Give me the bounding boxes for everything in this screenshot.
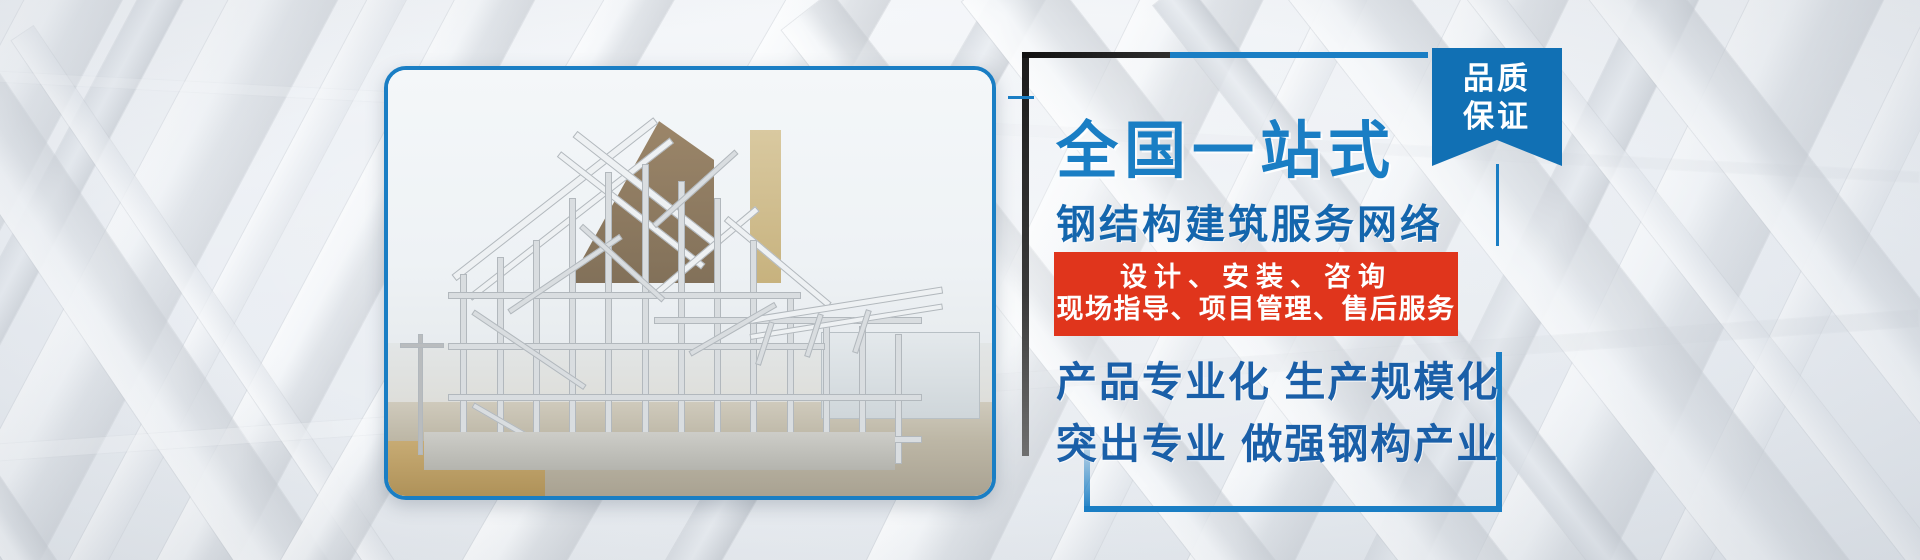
badge-tail-line xyxy=(1496,164,1499,246)
promotional-banner: 品质 保证 全国一站式 钢结构建筑服务网络 设计、安装、咨询 现场指导、项目管理… xyxy=(0,0,1920,560)
panel-top-dark-border xyxy=(1022,52,1172,58)
text-panel: 品质 保证 全国一站式 钢结构建筑服务网络 设计、安装、咨询 现场指导、项目管理… xyxy=(1022,52,1502,512)
headline-main: 全国一站式 xyxy=(1056,100,1396,190)
badge-line-2: 保证 xyxy=(1463,98,1531,136)
slogan-line-1: 产品专业化 生产规模化 xyxy=(1056,348,1499,408)
services-line-1: 设计、安装、咨询 xyxy=(1120,262,1392,294)
badge-connector-arm xyxy=(1008,96,1034,99)
panel-bottom-border xyxy=(1084,506,1498,512)
panel-left-border xyxy=(1022,52,1029,456)
construction-photo-card xyxy=(384,66,996,500)
steel-frame-house-photo xyxy=(388,70,992,496)
panel-top-blue-border xyxy=(1170,52,1428,58)
slogan-line-2: 突出专业 做强钢构产业 xyxy=(1056,410,1499,470)
services-line-2: 现场指导、项目管理、售后服务 xyxy=(1057,294,1456,326)
quality-assurance-badge: 品质 保证 xyxy=(1432,48,1562,166)
services-highlight-box: 设计、安装、咨询 现场指导、项目管理、售后服务 xyxy=(1054,252,1458,336)
badge-line-1: 品质 xyxy=(1463,60,1531,98)
headline-sub: 钢结构建筑服务网络 xyxy=(1056,192,1443,250)
